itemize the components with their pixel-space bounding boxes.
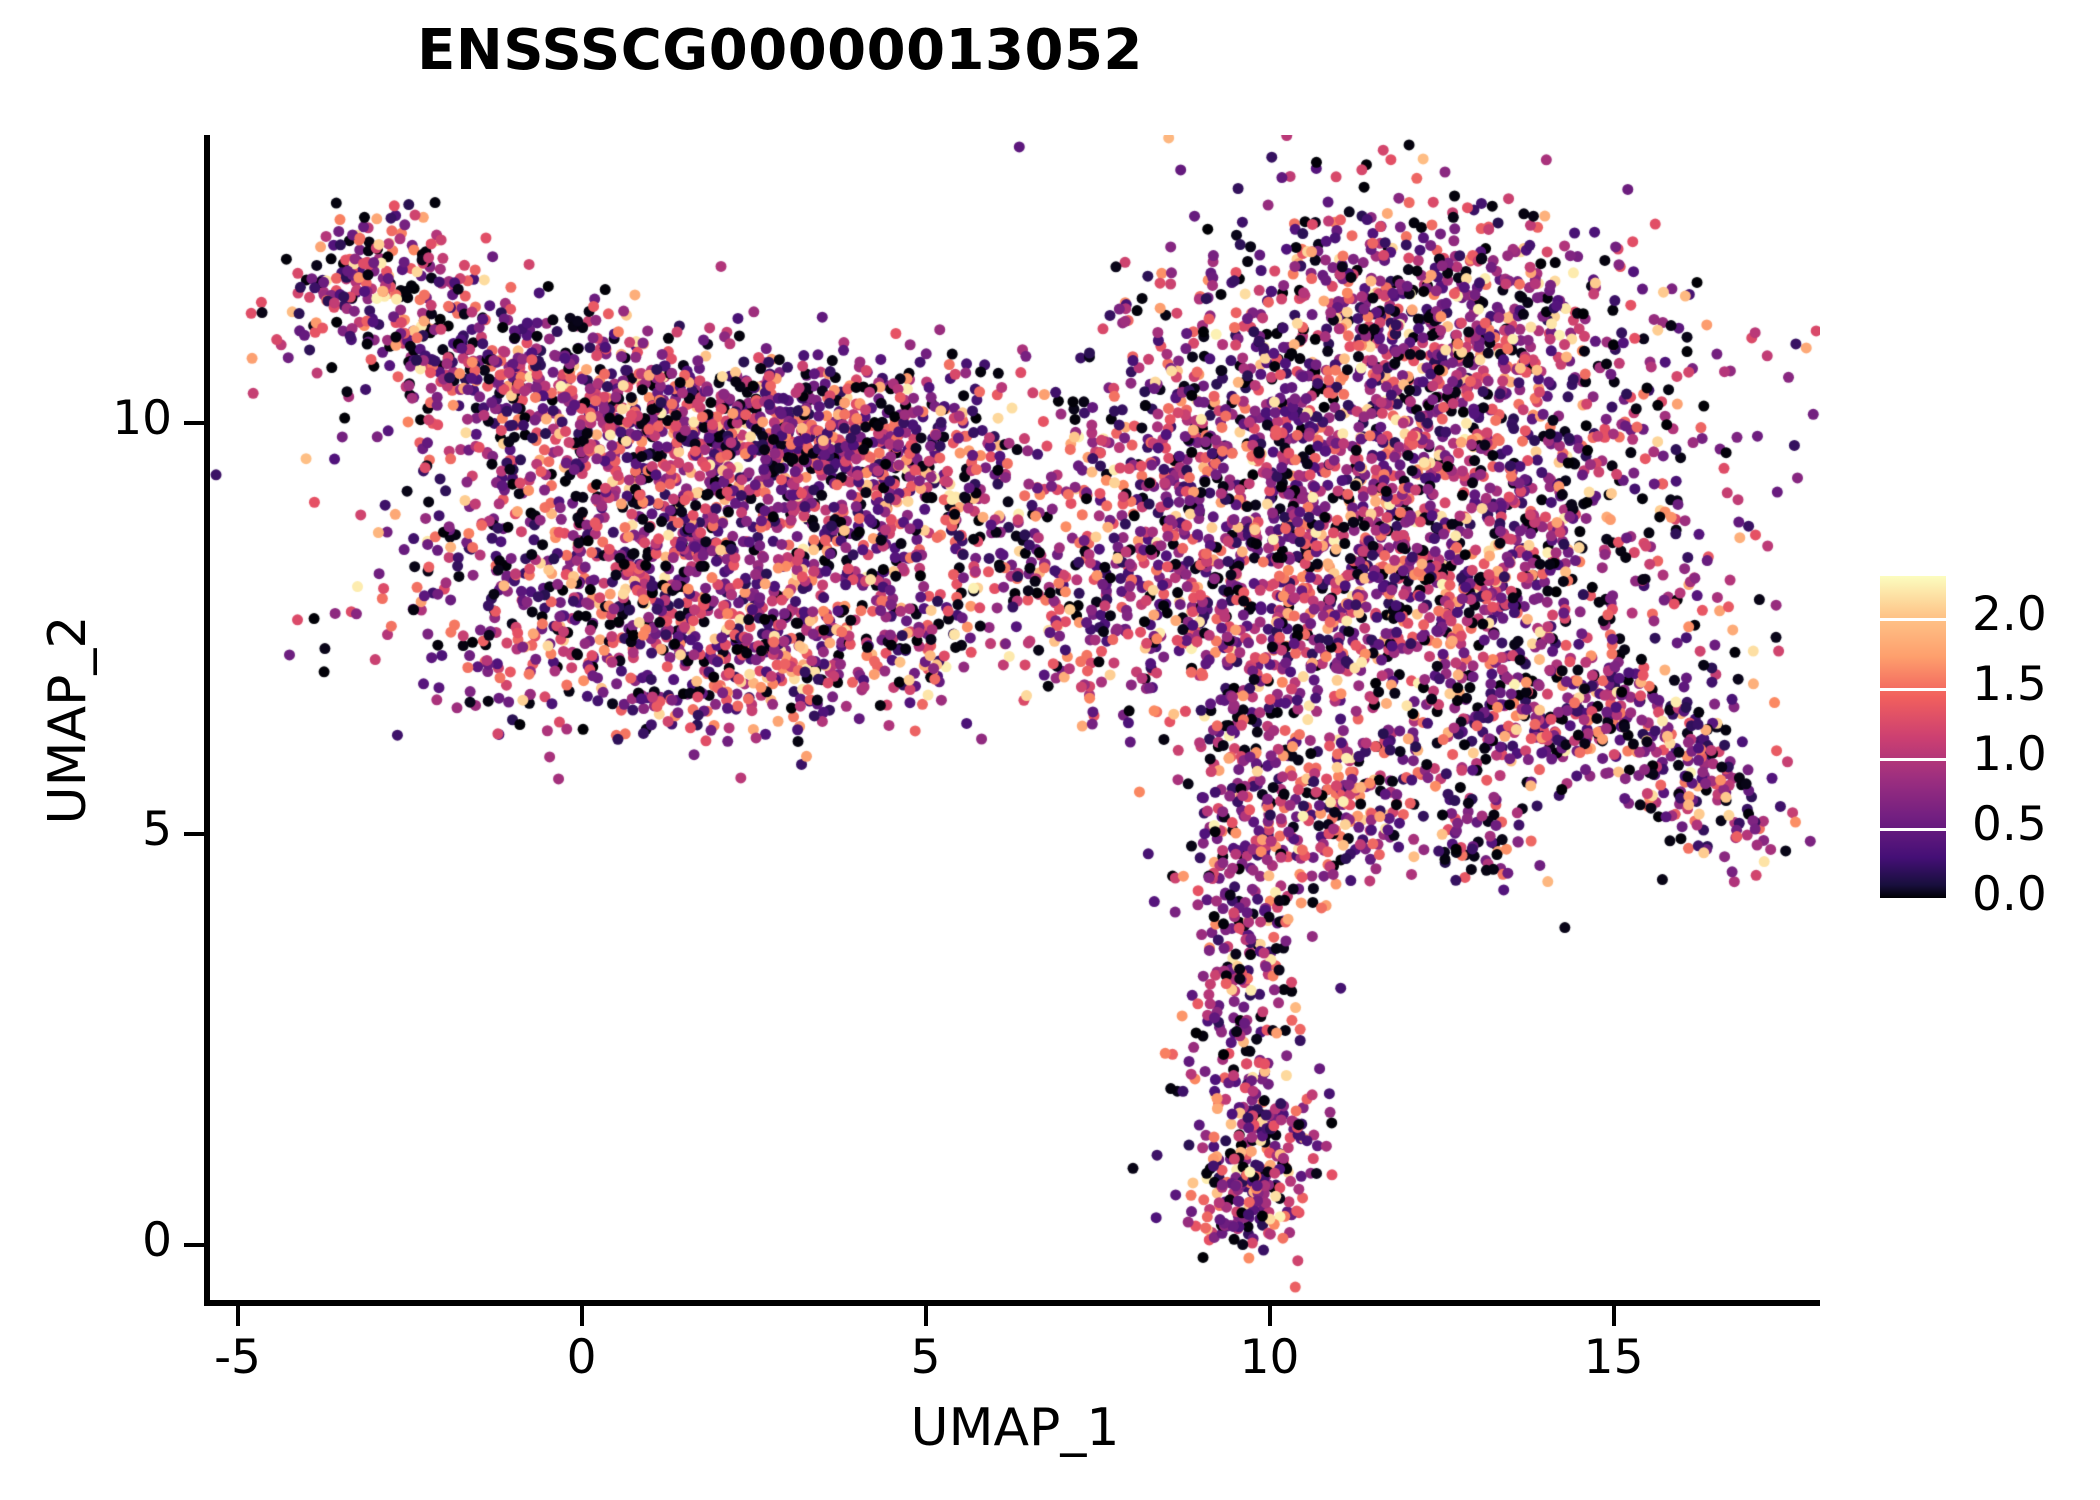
x-tick-mark [1268, 1306, 1272, 1326]
y-tick-mark [184, 1243, 204, 1247]
colorbar-tick-mark [1880, 618, 1946, 621]
umap-feature-plot-figure: ENSSSCG00000013052 -5051015 0510 UMAP_1 … [0, 0, 2100, 1500]
y-tick-mark [184, 421, 204, 425]
scatter-points-canvas [210, 135, 1820, 1303]
x-tick-label: -5 [158, 1330, 318, 1385]
colorbar-tick-label: 0.0 [1972, 867, 2047, 922]
colorbar-tick-label: 1.5 [1972, 657, 2047, 712]
x-tick-label: 10 [1190, 1330, 1350, 1385]
colorbar-tick-mark [1880, 828, 1946, 831]
colorbar-tick-mark [1880, 688, 1946, 691]
colorbar-tick-mark [1880, 898, 1946, 901]
x-tick-mark [236, 1306, 240, 1326]
colorbar-tick-mark [1880, 758, 1946, 761]
x-tick-label: 0 [502, 1330, 662, 1385]
y-axis-spine [204, 135, 210, 1306]
x-tick-mark [580, 1306, 584, 1326]
x-tick-mark [1612, 1306, 1616, 1326]
page-title: ENSSSCG00000013052 [0, 18, 1560, 83]
colorbar-tick-label: 1.0 [1972, 727, 2047, 782]
colorbar-tick-label: 2.0 [1972, 587, 2047, 642]
y-tick-mark [184, 832, 204, 836]
x-tick-label: 5 [846, 1330, 1006, 1385]
colorbar-gradient [1880, 576, 1946, 898]
x-tick-mark [924, 1306, 928, 1326]
scatter-plot-panel [210, 135, 1820, 1303]
x-tick-label: 15 [1534, 1330, 1694, 1385]
y-axis-label: UMAP_2 [38, 370, 98, 1070]
colorbar-tick-label: 0.5 [1972, 797, 2047, 852]
x-axis-label: UMAP_1 [210, 1398, 1820, 1458]
x-axis-spine [204, 1300, 1820, 1306]
y-tick-label: 0 [0, 1213, 172, 1268]
